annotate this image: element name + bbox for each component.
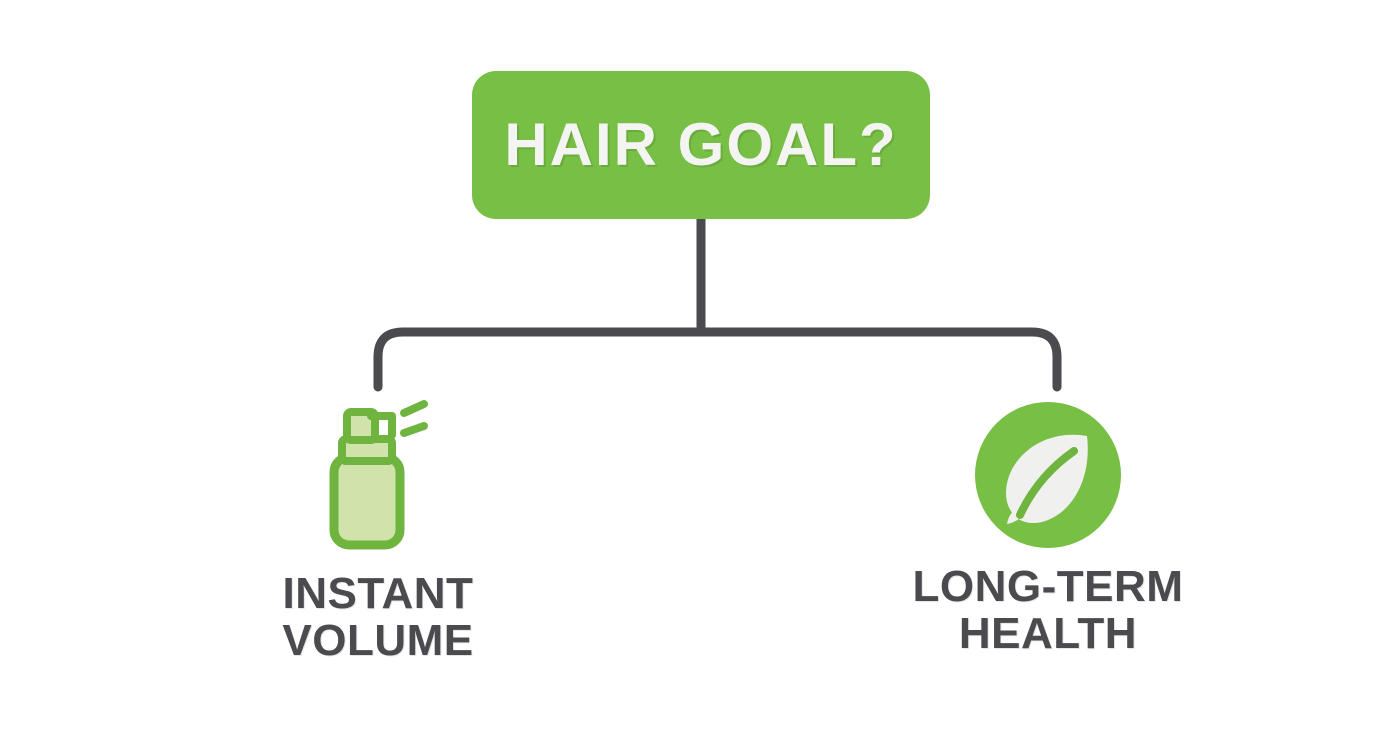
branch-node-instant-volume[interactable]: INSTANT VOLUME — [208, 392, 548, 664]
branch-node-long-term-health[interactable]: LONG-TERM HEALTH — [878, 400, 1218, 657]
spray-bottle-body — [334, 457, 400, 545]
branch-label-instant-volume: INSTANT VOLUME — [282, 571, 473, 664]
diagram-canvas: HAIR GOAL? INSTANT VOLUME — [0, 0, 1392, 752]
connector-right-branch — [701, 332, 1057, 387]
spray-line-upper — [404, 404, 424, 413]
leaf-icon-wrap — [963, 400, 1133, 550]
spray-bottle-icon — [316, 395, 441, 555]
root-node-hair-goal[interactable]: HAIR GOAL? — [472, 71, 930, 219]
branch-label-long-term-health: LONG-TERM HEALTH — [913, 564, 1184, 657]
spray-bottle-icon-wrap — [293, 392, 463, 557]
leaf-in-circle-icon — [974, 401, 1122, 549]
spray-line-lower — [404, 426, 424, 433]
root-node-label: HAIR GOAL? — [504, 115, 897, 175]
connector-left-branch — [378, 332, 701, 387]
